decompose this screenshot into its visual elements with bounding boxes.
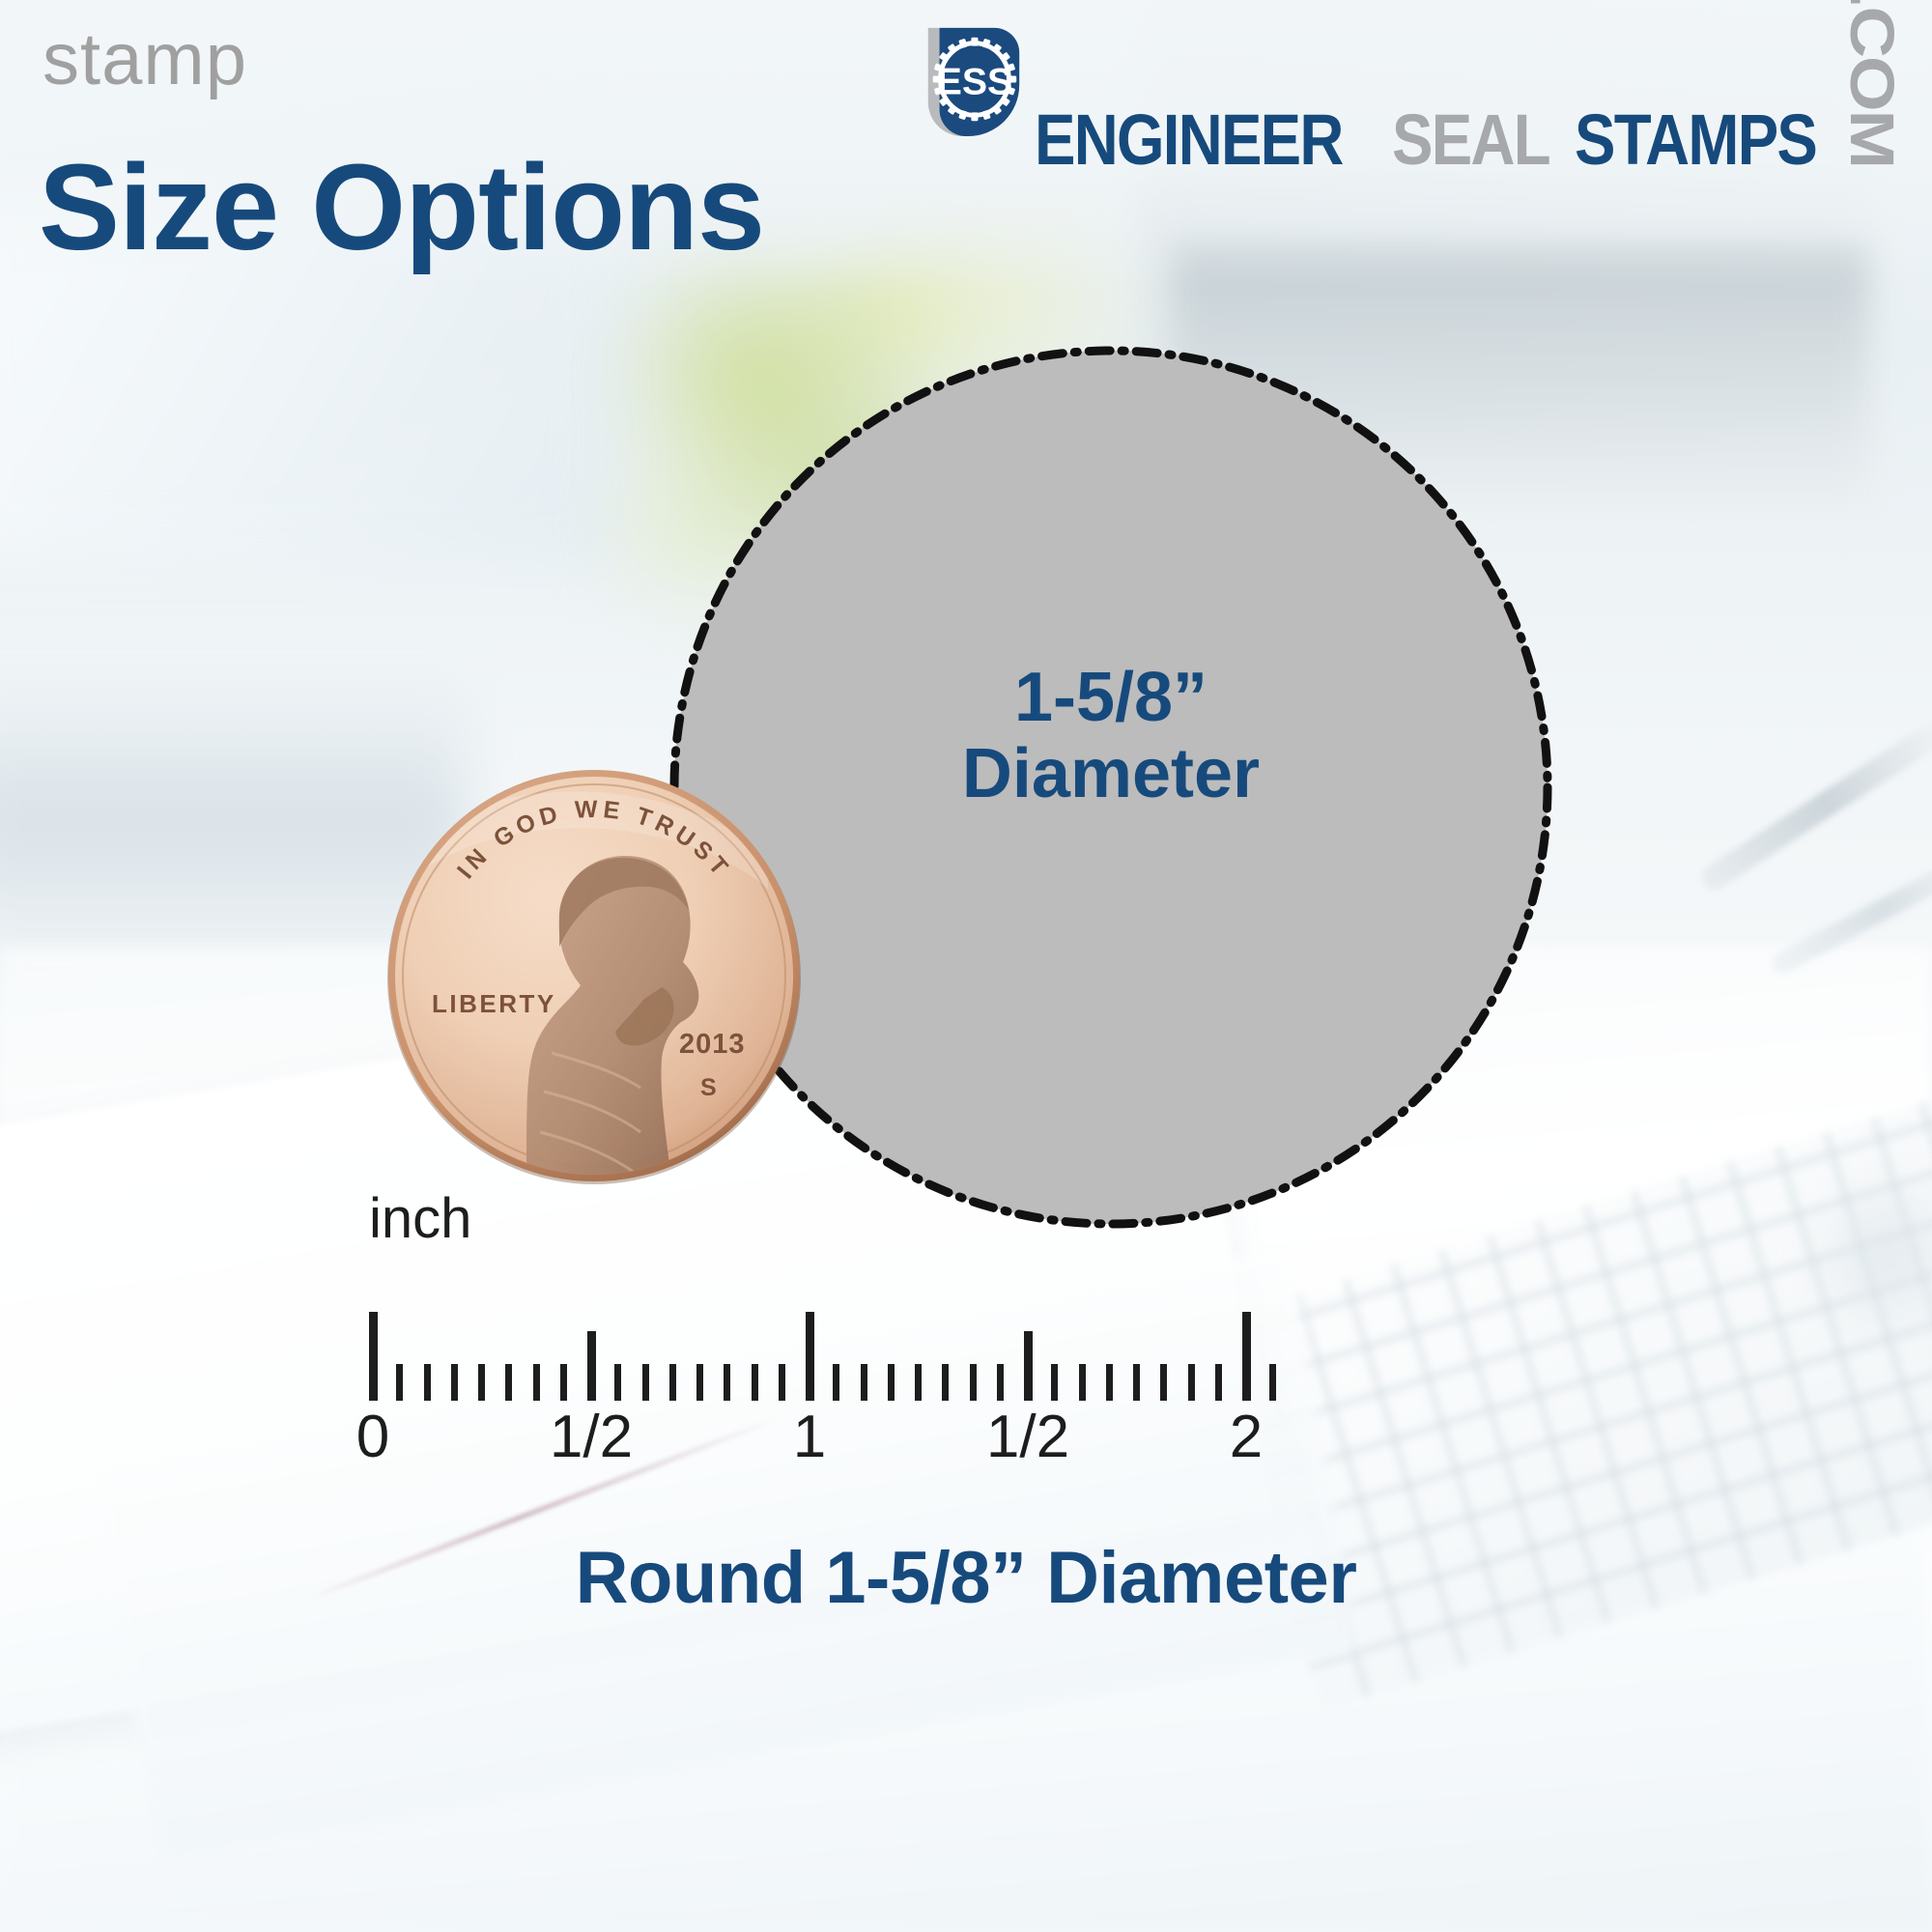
- ruler-tick-major: [369, 1312, 378, 1401]
- ruler-tick-minor: [942, 1364, 949, 1401]
- ruler-tick-minor: [424, 1364, 431, 1401]
- ruler-tick-minor: [669, 1364, 676, 1401]
- ruler-tick-major: [806, 1312, 814, 1401]
- logo-word-stamps: STAMPS: [1575, 111, 1816, 170]
- eyebrow-label: stamp: [43, 23, 247, 97]
- ruler-label: 1: [793, 1403, 826, 1471]
- logo-word-engineer: ENGINEER: [1035, 111, 1343, 170]
- gear-seal-icon: ESS: [915, 22, 1029, 136]
- ruler-label: 2: [1230, 1403, 1263, 1471]
- ruler-label: 1/2: [550, 1403, 633, 1471]
- ruler-tick-half: [587, 1331, 596, 1401]
- brand-logo: ESS ENGINEER SEAL STAMPS .COM: [915, 21, 1905, 137]
- ruler-tick-minor: [915, 1364, 922, 1401]
- ruler-tick-minor: [970, 1364, 977, 1401]
- ruler-tick-minor: [396, 1364, 403, 1401]
- ruler-tick-minor: [642, 1364, 649, 1401]
- coin-year: 2013: [679, 1029, 746, 1060]
- ruler-tick-major: [1242, 1312, 1251, 1401]
- penny-coin-image: IN GOD WE TRUST LIBERTY 2013 S: [382, 763, 807, 1188]
- product-size-caption-text: Round 1-5/8” Diameter: [576, 1536, 1357, 1620]
- ruler-tick-minor: [533, 1364, 540, 1401]
- ruler-tick-minor: [1079, 1364, 1086, 1401]
- ruler-tick-minor: [861, 1364, 867, 1401]
- ruler-tick-minor: [614, 1364, 621, 1401]
- ruler-tick-minor: [696, 1364, 703, 1401]
- ruler-label: 1/2: [986, 1403, 1069, 1471]
- ruler-tick-minor: [560, 1364, 567, 1401]
- ruler-tick-minor: [833, 1364, 839, 1401]
- ruler-tick-minor: [1051, 1364, 1058, 1401]
- ruler-tick-minor: [724, 1364, 730, 1401]
- product-size-caption: Round 1-5/8” Diameter: [0, 1536, 1932, 1620]
- ruler-tick-minor: [505, 1364, 512, 1401]
- logo-wordmark: ENGINEER SEAL STAMPS .COM: [1035, 0, 1905, 170]
- ruler-scale: [369, 1285, 1509, 1401]
- coin-mint-mark: S: [700, 1074, 717, 1101]
- ruler-tick-minor: [1215, 1364, 1222, 1401]
- ruler-tick-minor: [1269, 1364, 1276, 1401]
- logo-word-seal: SEAL: [1392, 111, 1549, 170]
- ruler-label: 0: [356, 1403, 389, 1471]
- logo-word-dotcom: .COM: [1846, 0, 1896, 168]
- ruler-unit-label: inch: [369, 1186, 471, 1251]
- coin-liberty: LIBERTY: [432, 989, 556, 1018]
- ruler-tick-minor: [779, 1364, 785, 1401]
- ruler-tick-minor: [1106, 1364, 1113, 1401]
- ruler-tick-minor: [478, 1364, 485, 1401]
- ruler-tick-minor: [752, 1364, 758, 1401]
- ruler-tick-minor: [888, 1364, 895, 1401]
- background-cup: [1787, 1140, 1932, 1430]
- ruler-tick-minor: [997, 1364, 1004, 1401]
- logo-badge-text: ESS: [936, 61, 1012, 103]
- ruler-tick-half: [1024, 1331, 1033, 1401]
- ruler-tick-minor: [1188, 1364, 1195, 1401]
- size-options-graphic: stamp Size Options: [0, 0, 1932, 1932]
- ruler-tick-minor: [1160, 1364, 1167, 1401]
- ruler-tick-minor: [451, 1364, 458, 1401]
- page-title: Size Options: [39, 147, 764, 269]
- ruler-tick-minor: [1133, 1364, 1140, 1401]
